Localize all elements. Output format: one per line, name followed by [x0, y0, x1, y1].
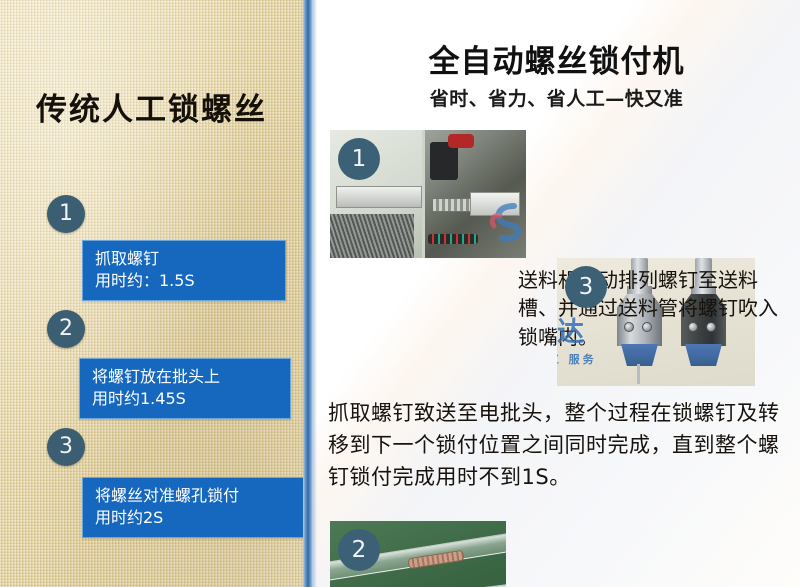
photo-badge-2: 2 [338, 529, 380, 571]
step-box-2: 将螺钉放在批头上 用时约1.45S [79, 358, 291, 419]
step-2-line-2: 用时约1.45S [92, 388, 278, 410]
step-3-line-2: 用时约2S [95, 507, 291, 529]
slide-canvas: 传统人工锁螺丝 1 抓取螺钉 用时约：1.5S 2 将螺钉放在批头上 用时约1.… [0, 0, 800, 587]
watermark-slogan: 专业 精工 服务 [557, 351, 597, 367]
cycle-time-paragraph: 抓取螺钉致送至电批头，整个过程在锁螺钉及转移到下一个锁付位置之间同时完成，直到整… [328, 398, 793, 494]
step-3-line-1: 将螺丝对准螺孔锁付 [95, 485, 291, 507]
step-badge-3: 3 [47, 428, 85, 466]
left-panel-title: 传统人工锁螺丝 [0, 84, 303, 129]
photo-badge-1: 1 [338, 138, 380, 180]
screw-pile [330, 214, 414, 258]
feeder-description-paragraph: 送料机自动排列螺钉至送料槽、并通过送料管将螺钉吹入锁嘴内。 [518, 266, 796, 351]
step-1-line-2: 用时约：1.5S [95, 270, 273, 292]
corner-logo-icon [488, 200, 524, 244]
left-panel-manual-process: 传统人工锁螺丝 1 抓取螺钉 用时约：1.5S 2 将螺钉放在批头上 用时约1.… [0, 0, 303, 587]
step-1-line-1: 抓取螺钉 [95, 248, 273, 270]
right-panel-automatic-machine: 全自动螺丝锁付机 省时、省力、省人工—快又准 1 [313, 0, 800, 587]
panel-divider [303, 0, 313, 587]
right-panel-subtitle: 省时、省力、省人工—快又准 [313, 84, 800, 111]
machine-interior-photo: 1 [330, 130, 526, 258]
photo-badge-3: 3 [565, 266, 607, 308]
step-badge-1: 1 [47, 195, 85, 233]
feed-tube-lower [330, 583, 506, 587]
hopper-bar [336, 186, 422, 208]
step-box-3: 将螺丝对准螺孔锁付 用时约2S [82, 477, 303, 538]
feed-tube-photo: 2 [330, 521, 506, 587]
nozzle-needle [637, 364, 640, 384]
step-box-1: 抓取螺钉 用时约：1.5S [82, 240, 286, 301]
wire-bundle [428, 234, 478, 244]
step-badge-2: 2 [47, 310, 85, 348]
step-2-line-1: 将螺钉放在批头上 [92, 366, 278, 388]
red-knob [448, 134, 474, 148]
right-panel-title: 全自动螺丝锁付机 [313, 36, 800, 81]
panel-divider-glow [313, 0, 317, 587]
